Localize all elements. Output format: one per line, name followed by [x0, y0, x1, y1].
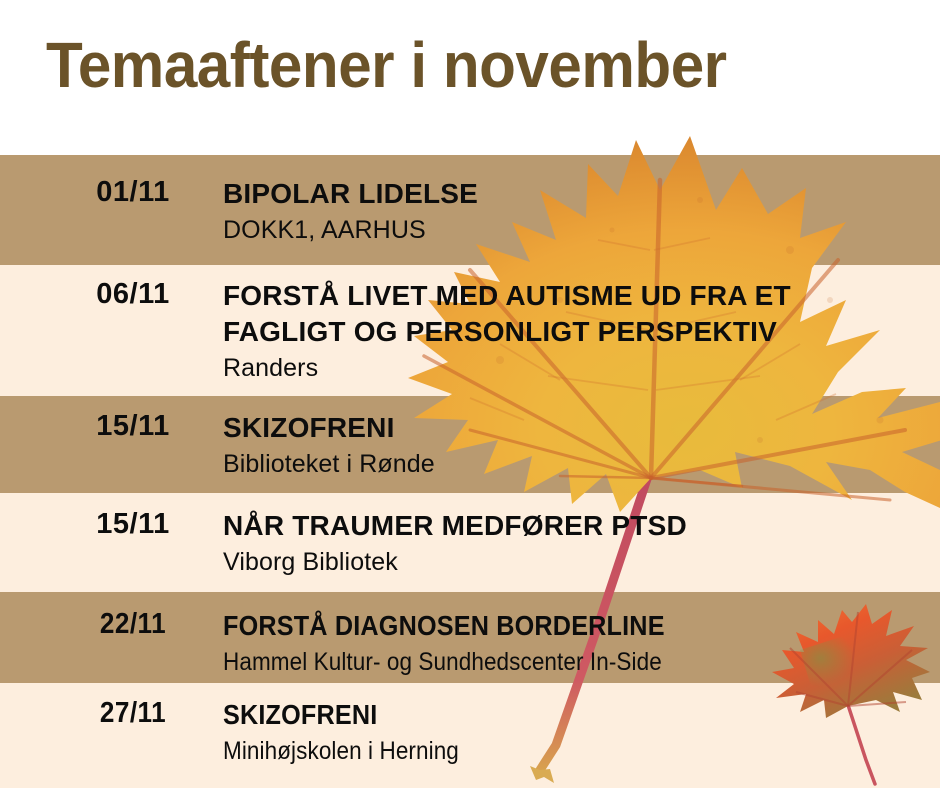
- event-info: FORSTÅ DIAGNOSEN BORDERLINE Hammel Kultu…: [223, 608, 923, 679]
- event-place: Randers: [223, 352, 923, 385]
- event-title: NÅR TRAUMER MEDFØRER PTSD: [223, 508, 923, 544]
- event-place: DOKK1, AARHUS: [223, 214, 923, 247]
- event-info: NÅR TRAUMER MEDFØRER PTSD Viborg Bibliot…: [223, 508, 923, 579]
- event-date: 15/11: [58, 410, 208, 443]
- event-title: SKIZOFRENI: [223, 410, 923, 446]
- event-date: 15/11: [58, 508, 208, 541]
- event-date: 01/11: [58, 176, 208, 209]
- event-info: SKIZOFRENI Biblioteket i Rønde: [223, 410, 923, 481]
- event-title: SKIZOFRENI: [223, 697, 853, 733]
- event-date: 22/11: [66, 608, 201, 641]
- event-place: Biblioteket i Rønde: [223, 448, 923, 481]
- event-place: Minihøjskolen i Herning: [223, 735, 853, 768]
- event-title: FORSTÅ LIVET MED AUTISME UD FRA ET FAGLI…: [223, 278, 923, 350]
- event-date: 06/11: [58, 278, 208, 311]
- event-info: SKIZOFRENI Minihøjskolen i Herning: [223, 697, 923, 768]
- event-info: BIPOLAR LIDELSE DOKK1, AARHUS: [223, 176, 923, 247]
- event-title: BIPOLAR LIDELSE: [223, 176, 923, 212]
- event-place: Hammel Kultur- og Sundhedscenter In-Side: [223, 646, 853, 679]
- event-place: Viborg Bibliotek: [223, 546, 923, 579]
- event-title: FORSTÅ DIAGNOSEN BORDERLINE: [223, 608, 853, 644]
- event-date: 27/11: [66, 697, 201, 730]
- event-info: FORSTÅ LIVET MED AUTISME UD FRA ET FAGLI…: [223, 278, 923, 385]
- poster-canvas: Temaaftener i november 01/11 BIPOLAR LID…: [0, 0, 940, 788]
- poster-title: Temaaftener i november: [46, 26, 873, 104]
